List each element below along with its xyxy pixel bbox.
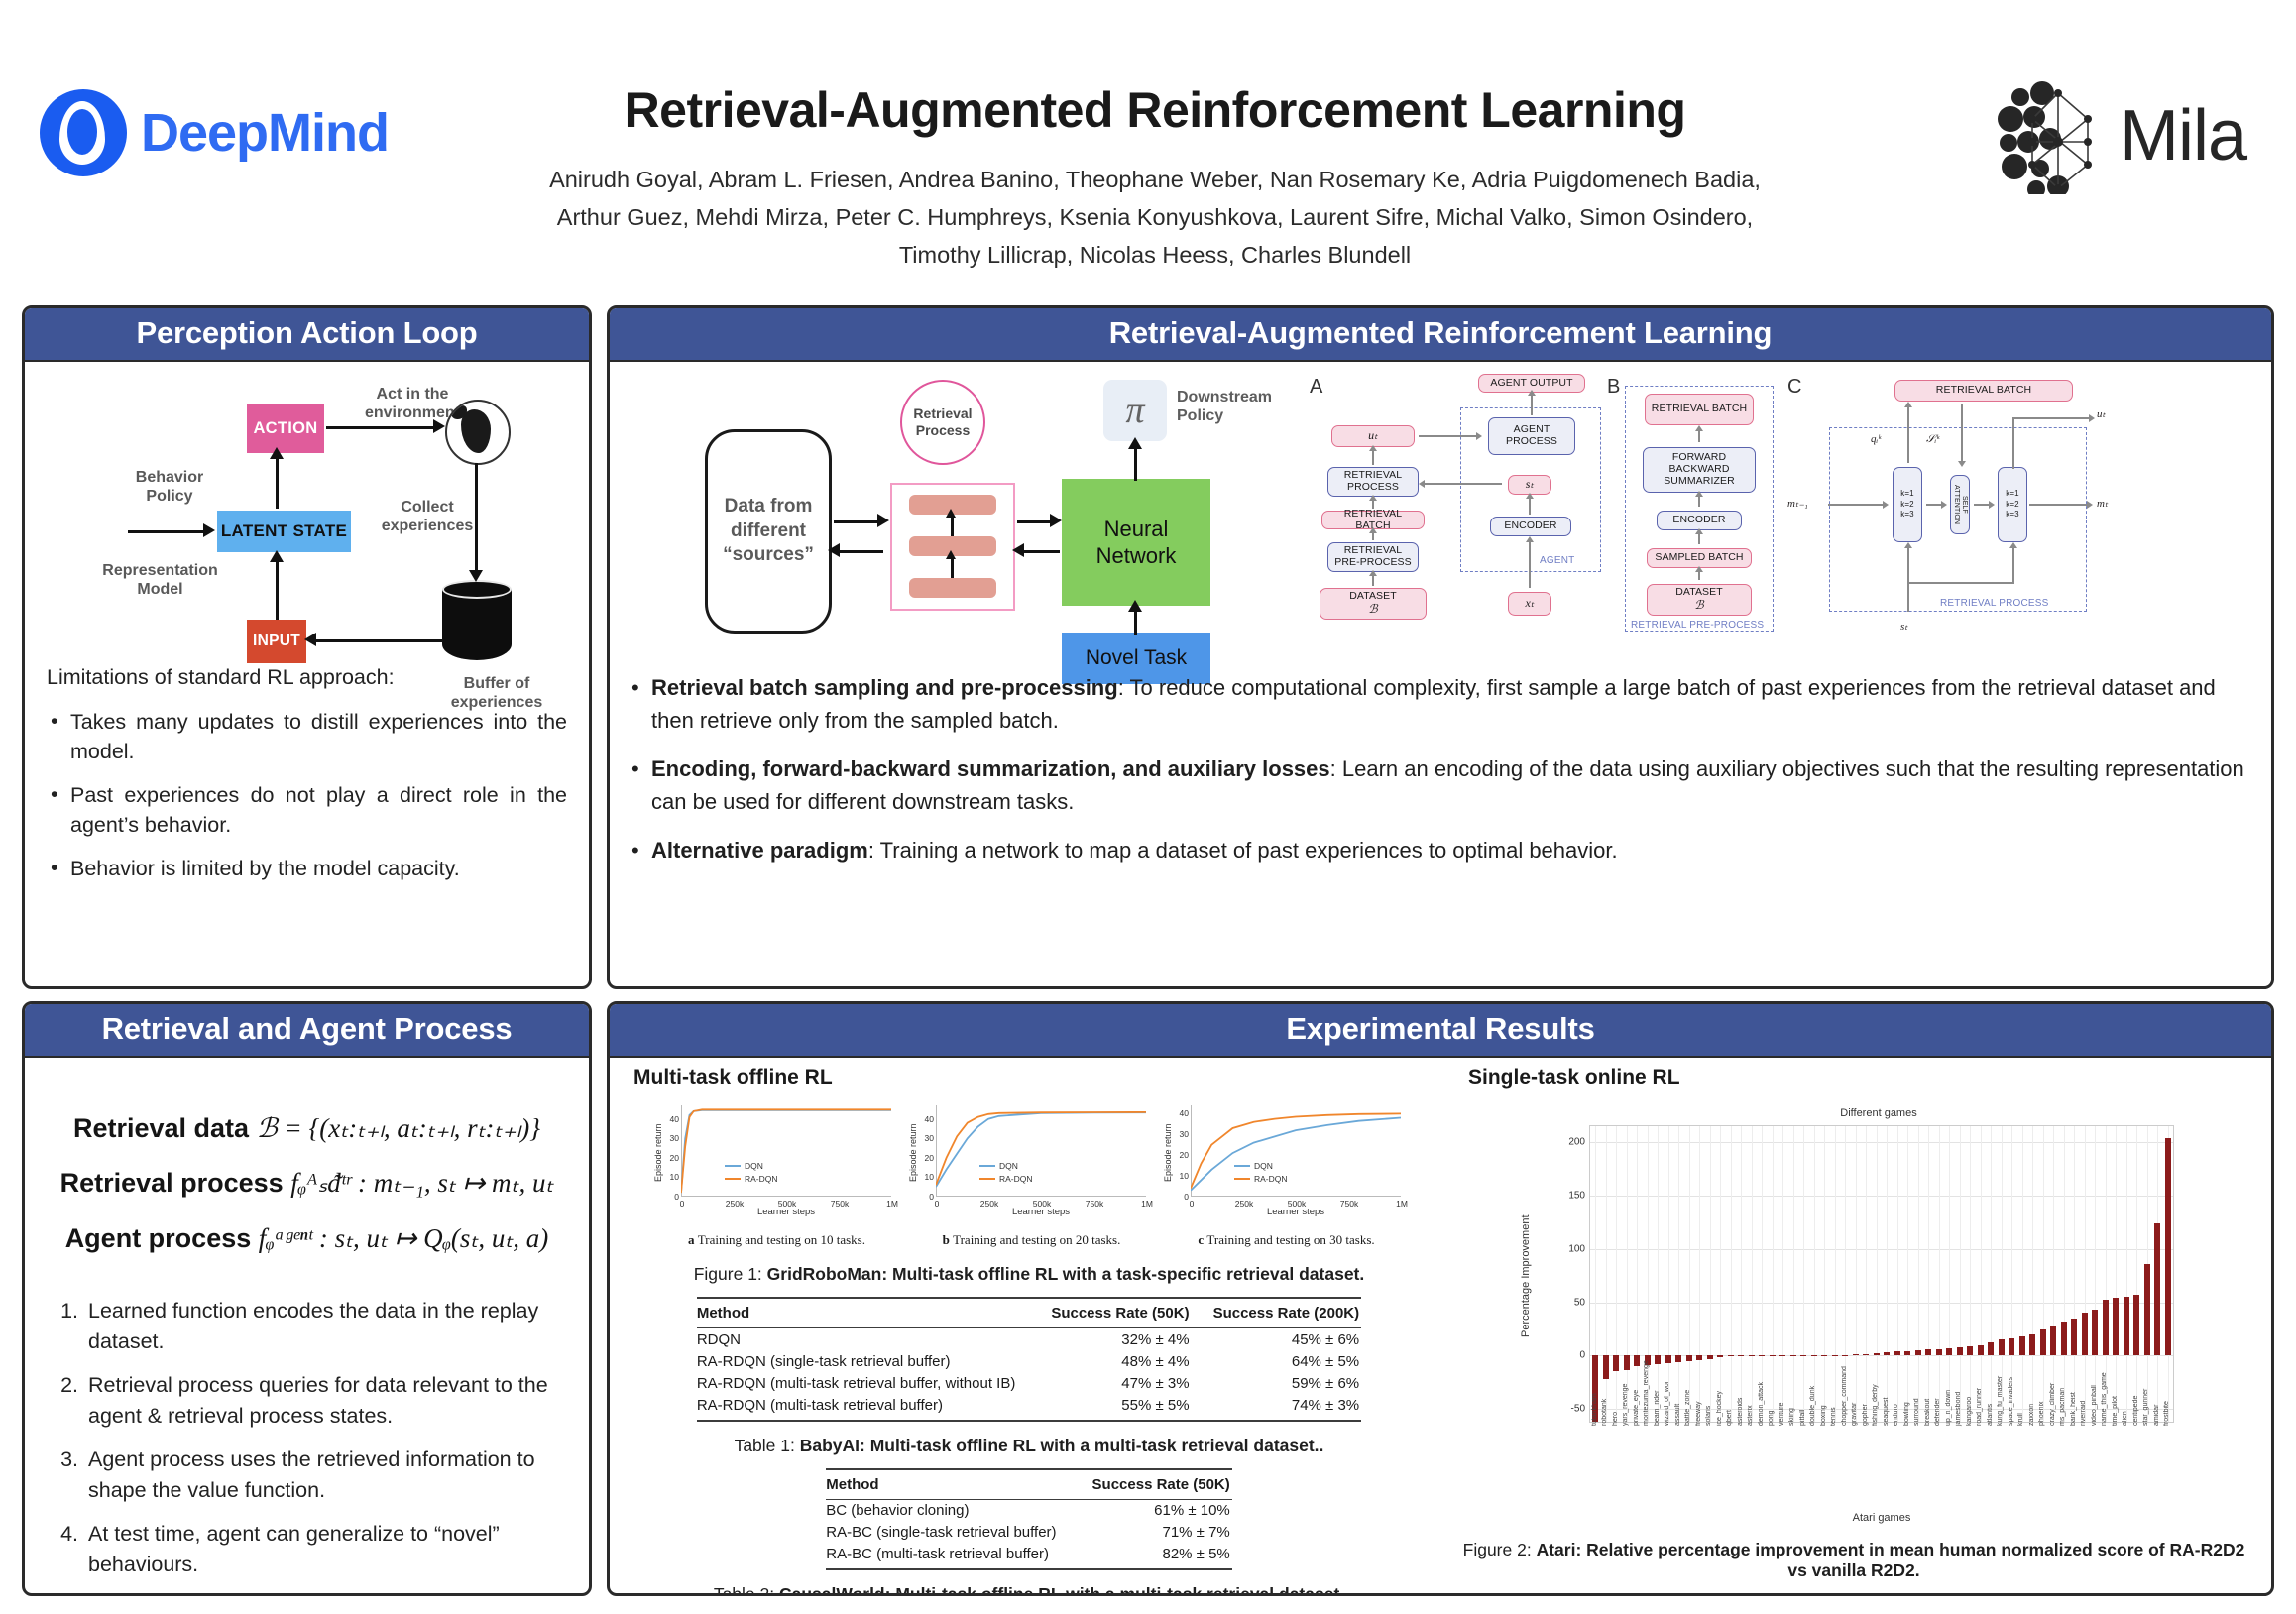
- atari-chart-title: Different games: [1601, 1107, 2156, 1119]
- legend-entry: RA-DQN: [979, 1174, 1033, 1184]
- bar: [1696, 1355, 1702, 1359]
- x-tick-label: demon_attack: [1758, 1382, 1765, 1426]
- bar: [2019, 1336, 2025, 1355]
- x-tick-label: freeway: [1695, 1401, 1702, 1426]
- chart-caption: a Training and testing on 10 tasks.: [655, 1232, 898, 1248]
- bar: [1675, 1355, 1681, 1361]
- list-item: Retrieval process queries for data relev…: [84, 1370, 573, 1431]
- poster-root: DeepMind Retrieval-Augmented Reinforceme…: [0, 0, 2296, 1614]
- table-row: RA-RDQN (single-task retrieval buffer)48…: [697, 1350, 1361, 1372]
- node-data-sources: Data from different “sources”: [705, 429, 832, 634]
- panel-title-perception: Perception Action Loop: [25, 308, 589, 362]
- author-line-1: Anirudh Goyal, Abram L. Friesen, Andrea …: [496, 161, 1814, 198]
- chart-lines: [681, 1105, 891, 1197]
- y-tick-label: 0: [929, 1192, 934, 1202]
- y-tick-label: 200: [1568, 1137, 1585, 1148]
- atari-plot-area: -50050100150200tutankhamrobotankheroyars…: [1589, 1125, 2174, 1423]
- gridroboman-charts: Episode return0102030400250k500k750k1MDQ…: [655, 1103, 1431, 1248]
- x-tick-label: qbert: [1726, 1410, 1733, 1426]
- arrow-buffer-to-input: [314, 639, 443, 642]
- bar: [1624, 1355, 1630, 1370]
- cell-value: 64% ± 5%: [1192, 1350, 1362, 1372]
- y-tick-label: 20: [670, 1153, 679, 1163]
- table2-text: CausalWorld: Multi-task offline RL with …: [779, 1584, 1344, 1596]
- arrow-nn-to-rp: [1020, 550, 1060, 553]
- grid-line: [1897, 1126, 1898, 1422]
- label-qk: qᵢᵏ: [1871, 433, 1881, 445]
- bullet-bold: Encoding, forward-backward summarization…: [651, 756, 1330, 781]
- arrow-task-to-nn: [1134, 608, 1137, 635]
- page-title: Retrieval-Augmented Reinforcement Learni…: [496, 81, 1814, 139]
- arrow-latent-to-action: [276, 455, 279, 509]
- bar: [1863, 1354, 1869, 1355]
- cell-method: RA-BC (multi-task retrieval buffer): [826, 1544, 1070, 1570]
- grid-line: [1991, 1126, 1992, 1422]
- author-line-3: Timothy Lillicrap, Nicolas Heess, Charle…: [496, 236, 1814, 274]
- col-sr-50k: Success Rate (50K): [1071, 1469, 1232, 1500]
- grid-line: [2053, 1126, 2054, 1422]
- bar: [1821, 1355, 1827, 1356]
- y-tick-label: 10: [1180, 1171, 1189, 1181]
- bar: [1770, 1355, 1776, 1356]
- node-agent-process: AGENT PROCESS: [1488, 417, 1575, 455]
- x-tick-label: montezuma_revenge: [1643, 1360, 1650, 1426]
- cell-value: 74% ± 3%: [1192, 1394, 1362, 1421]
- grid-line: [2095, 1126, 2096, 1422]
- grid-line: [2064, 1126, 2065, 1422]
- chart-caption: b Training and testing on 20 tasks.: [910, 1232, 1153, 1248]
- arrow-action-to-globe: [326, 426, 435, 429]
- panel-retrieval-agent-process: Retrieval and Agent Process Retrieval da…: [22, 1001, 592, 1596]
- x-tick-label: boxing: [1820, 1405, 1827, 1426]
- table-row: RA-BC (multi-task retrieval buffer)82% ±…: [826, 1544, 1232, 1570]
- bar: [1874, 1353, 1880, 1355]
- legend-label: RA-DQN: [1254, 1174, 1288, 1184]
- col-method: Method: [697, 1298, 1029, 1328]
- grid-line: [2116, 1126, 2117, 1422]
- bar: [1728, 1355, 1734, 1356]
- bar: [1800, 1355, 1806, 1356]
- bar: [1759, 1355, 1765, 1356]
- bar: [1686, 1355, 1692, 1360]
- col-sr-200k: Success Rate (200K): [1192, 1298, 1362, 1328]
- node-latent-state: LATENT STATE: [217, 511, 351, 552]
- grid-line: [2126, 1126, 2127, 1422]
- grid-line: [1835, 1126, 1836, 1422]
- bullet-text: : Training a network to map a dataset of…: [868, 838, 1618, 863]
- y-tick-label: 0: [674, 1192, 679, 1202]
- mila-logo: Mila: [1997, 77, 2246, 194]
- bar: [2092, 1310, 2098, 1355]
- grid-line: [1793, 1126, 1794, 1422]
- x-tick-label: chopper_command: [1841, 1366, 1848, 1426]
- table-causalworld: Method Success Rate (50K) BC (behavior c…: [826, 1468, 1232, 1571]
- x-tick-label: hero: [1612, 1412, 1619, 1426]
- x-tick-label: atlantis: [1987, 1404, 1994, 1426]
- x-tick-label: private_eye: [1633, 1390, 1640, 1426]
- bar: [2113, 1298, 2119, 1355]
- y-tick-label: 0: [1184, 1192, 1189, 1202]
- x-tick-label: time_pilot: [2112, 1396, 2119, 1426]
- x-tick-label: gravitar: [1851, 1403, 1858, 1426]
- panel-c-letter: C: [1787, 376, 1801, 399]
- x-axis-label: Learner steps: [1191, 1207, 1401, 1217]
- bar: [1884, 1352, 1890, 1355]
- poster-header: DeepMind Retrieval-Augmented Reinforceme…: [0, 0, 2296, 288]
- cell-method: RA-RDQN (multi-task retrieval buffer): [697, 1394, 1029, 1421]
- table-babyai: Method Success Rate (50K) Success Rate (…: [697, 1297, 1361, 1422]
- x-tick-label: skiing: [1788, 1408, 1795, 1426]
- x-tick-label: tutankham: [1591, 1393, 1598, 1426]
- node-b-dataset: DATASET ℬ: [1647, 584, 1752, 616]
- bar: [1853, 1354, 1859, 1355]
- x-tick-label: asteroids: [1737, 1398, 1744, 1426]
- bar: [1749, 1355, 1755, 1356]
- x-tick-label: yars_revenge: [1622, 1384, 1629, 1426]
- x-tick-label: robotank: [1601, 1399, 1608, 1426]
- label-agent-group: AGENT: [1540, 555, 1574, 566]
- table1-prefix: Table 1:: [735, 1436, 800, 1455]
- chart-legend: DQNRA-DQN: [1234, 1161, 1288, 1187]
- y-tick-label: 20: [1180, 1150, 1189, 1160]
- cell-value: 71% ± 7%: [1071, 1522, 1232, 1544]
- label-collect-experiences: Collect experiences: [368, 499, 487, 536]
- node-retrieval-preprocess: RETRIEVAL PRE-PROCESS: [1327, 542, 1419, 572]
- grid-line: [1887, 1126, 1888, 1422]
- x-axis-label: Learner steps: [936, 1207, 1146, 1217]
- x-tick-label: centipede: [2132, 1396, 2139, 1426]
- x-tick-label: pitfall: [1799, 1410, 1806, 1426]
- grid-line: [1814, 1126, 1815, 1422]
- bar: [1665, 1355, 1671, 1363]
- y-tick-label: 20: [925, 1153, 934, 1163]
- x-tick-label: ice_hockey: [1716, 1391, 1723, 1426]
- grid-line: [1658, 1126, 1659, 1422]
- bar: [2050, 1326, 2056, 1355]
- bar: [1988, 1342, 1994, 1355]
- bar: [1842, 1355, 1848, 1356]
- bar: [2061, 1322, 2067, 1355]
- y-axis-label: Episode return: [908, 1107, 918, 1199]
- bar: [1811, 1355, 1817, 1356]
- grid-line: [1637, 1126, 1638, 1422]
- x-tick-label: frostbite: [2163, 1401, 2170, 1426]
- grid-line: [1824, 1126, 1825, 1422]
- globe-icon: [445, 400, 511, 465]
- x-tick-label: crazy_climber: [2049, 1383, 2056, 1426]
- node-dataset: DATASET ℬ: [1320, 588, 1427, 620]
- node-b-retrieval-batch: RETRIEVAL BATCH: [1645, 394, 1754, 425]
- legend-label: DQN: [745, 1161, 763, 1171]
- node-b-summarizer: FORWARD BACKWARD SUMMARIZER: [1643, 447, 1756, 493]
- formula-expression: fᵩᴬₛᵭᵗʳ : mₜ₋₁, sₜ ↦ mₜ, uₜ: [290, 1168, 553, 1198]
- bar: [1967, 1346, 1973, 1356]
- bar: [2165, 1138, 2171, 1355]
- label-behavior-policy: Behavior Policy: [120, 469, 219, 507]
- list-item: Retrieval batch sampling and pre-process…: [651, 671, 2245, 737]
- grid-line: [1866, 1126, 1867, 1422]
- node-b-sampled-batch: SAMPLED BATCH: [1647, 548, 1752, 568]
- bar: [2154, 1223, 2160, 1355]
- table-row: RDQN32% ± 4%45% ± 6%: [697, 1328, 1361, 1351]
- cell-value: 59% ± 6%: [1192, 1372, 1362, 1394]
- label-retrieval-preprocess-group: RETRIEVAL PRE-PROCESS: [1631, 620, 1764, 631]
- figure2-caption: Figure 2: Atari: Relative percentage imp…: [1462, 1540, 2245, 1581]
- cell-value: 47% ± 3%: [1029, 1372, 1191, 1394]
- legend-entry: RA-DQN: [725, 1174, 778, 1184]
- grid-line: [2085, 1126, 2086, 1422]
- panel-b-letter: B: [1607, 376, 1620, 399]
- x-tick-label: up_n_down: [1945, 1390, 1952, 1426]
- bullet-bold: Alternative paradigm: [651, 838, 868, 863]
- author-line-2: Arthur Guez, Mehdi Mirza, Peter C. Humph…: [496, 198, 1814, 236]
- cell-method: RA-RDQN (multi-task retrieval buffer, wi…: [697, 1372, 1029, 1394]
- grid-line: [1949, 1126, 1950, 1422]
- legend-label: DQN: [1254, 1161, 1273, 1171]
- heading-multi-task-offline: Multi-task offline RL: [633, 1066, 1431, 1090]
- cell-value: 48% ± 4%: [1029, 1350, 1191, 1372]
- series-DQN: [681, 1110, 891, 1193]
- deepmind-mark-icon: [40, 89, 127, 176]
- label-retrieval-process-group: RETRIEVAL PROCESS: [1940, 598, 2049, 609]
- bar: [1894, 1351, 1900, 1355]
- grid-line: [1678, 1126, 1679, 1422]
- label-sk: 𝒮ᵢᵏ: [1926, 433, 1939, 446]
- legend-label: RA-DQN: [999, 1174, 1033, 1184]
- grid-line: [1731, 1126, 1732, 1422]
- grid-line: [1720, 1126, 1721, 1422]
- panel-title-experimental: Experimental Results: [610, 1004, 2271, 1058]
- y-tick-label: -50: [1571, 1404, 1585, 1415]
- grid-line: [1699, 1126, 1700, 1422]
- formula-label: Retrieval data: [73, 1113, 249, 1143]
- grid-line: [1856, 1126, 1857, 1422]
- figure2-prefix: Figure 2:: [1463, 1540, 1537, 1559]
- legend-entry: RA-DQN: [1234, 1174, 1288, 1184]
- x-tick-label: space_invaders: [2008, 1377, 2014, 1426]
- atari-y-axis-label: Percentage Improvement: [1520, 1167, 1532, 1385]
- y-tick-label: 150: [1568, 1190, 1585, 1201]
- y-tick-label: 40: [1180, 1108, 1189, 1118]
- series-RA-DQN: [936, 1112, 1146, 1185]
- x-tick-label: kangaroo: [1966, 1397, 1973, 1426]
- bar: [1946, 1348, 1952, 1356]
- formula-row: Retrieval process fᵩᴬₛᵭᵗʳ : mₜ₋₁, sₜ ↦ m…: [41, 1156, 573, 1210]
- grid-line: [1590, 1249, 2173, 1250]
- series-RA-DQN: [681, 1109, 891, 1193]
- table-row: RA-RDQN (multi-task retrieval buffer, wi…: [697, 1372, 1361, 1394]
- formula-row: Retrieval data ℬ = {(xₜ:ₜ₊ₗ, aₜ:ₜ₊ₗ, rₜ:…: [41, 1101, 573, 1156]
- list-item: Encoding, forward-backward summarization…: [651, 752, 2245, 818]
- col-sr-50k: Success Rate (50K): [1029, 1298, 1191, 1328]
- x-tick-label: amidar: [2153, 1405, 2160, 1426]
- legend-label: DQN: [999, 1161, 1018, 1171]
- bar: [1603, 1355, 1609, 1379]
- x-tick-label: name_this_game: [2101, 1372, 2108, 1426]
- bar: [1915, 1350, 1921, 1355]
- node-input: INPUT: [247, 620, 306, 663]
- bar: [2124, 1297, 2129, 1355]
- panel-a-letter: A: [1310, 376, 1322, 399]
- bar: [1904, 1351, 1910, 1355]
- atari-x-axis-label: Atari games: [1589, 1512, 2174, 1524]
- node-c-self-attention: SELF ATTENTION: [1950, 475, 1970, 534]
- chart-caption: c Training and testing on 30 tasks.: [1165, 1232, 1408, 1248]
- grid-line: [1970, 1126, 1971, 1422]
- node-c-retrieval-batch: RETRIEVAL BATCH: [1894, 380, 2073, 402]
- bar: [2009, 1338, 2014, 1355]
- figure2-text: Atari: Relative percentage improvement i…: [1537, 1540, 2245, 1580]
- panel-experimental-results: Experimental Results Multi-task offline …: [607, 1001, 2274, 1596]
- dataset-symbol: ℬ: [1368, 603, 1378, 616]
- grid-line: [1939, 1126, 1940, 1422]
- y-tick-label: 30: [1180, 1129, 1189, 1139]
- x-tick-label: asterix: [1747, 1405, 1754, 1426]
- perception-action-diagram: ACTION LATENT STATE INPUT Act in the env…: [41, 382, 573, 654]
- x-tick-label: bowling: [1903, 1402, 1910, 1426]
- label-representation-model: Representation Model: [98, 562, 222, 600]
- bar: [2029, 1334, 2035, 1356]
- formula-expression: ℬ = {(xₜ:ₜ₊ₗ, aₜ:ₜ₊ₗ, rₜ:ₜ₊ₗ)}: [257, 1113, 540, 1143]
- y-tick-label: 40: [670, 1114, 679, 1124]
- formula-label: Agent process: [65, 1223, 252, 1253]
- legend-swatch: [979, 1178, 995, 1181]
- legend-entry: DQN: [1234, 1161, 1288, 1171]
- table2-prefix: Table 2:: [714, 1584, 779, 1596]
- bar: [1957, 1347, 1963, 1356]
- rarl-bullet-list: Retrieval batch sampling and pre-process…: [626, 671, 2255, 866]
- list-item: Takes many updates to distill experience…: [70, 707, 567, 767]
- grid-line: [1668, 1126, 1669, 1422]
- line-chart: Episode return0102030400250k500k750k1MDQ…: [1165, 1103, 1408, 1248]
- bar: [1634, 1355, 1640, 1366]
- bar: [1978, 1345, 1984, 1356]
- database-cylinder-icon: [442, 580, 512, 667]
- grid-line: [1627, 1126, 1628, 1422]
- x-axis-label: Learner steps: [681, 1207, 891, 1217]
- label-ut-c: uₜ: [2097, 407, 2106, 420]
- cell-value: 82% ± 5%: [1071, 1544, 1232, 1570]
- chart-lines: [1191, 1105, 1401, 1197]
- dataset-symbol: ℬ: [1694, 599, 1704, 612]
- list-item: Learned function encodes the data in the…: [84, 1296, 573, 1356]
- grid-line: [1907, 1126, 1908, 1422]
- cell-value: 55% ± 5%: [1029, 1394, 1191, 1421]
- table-header-row: Method Success Rate (50K): [826, 1469, 1232, 1500]
- grid-line: [1752, 1126, 1753, 1422]
- line-chart: Episode return0102030400250k500k750k1MDQ…: [910, 1103, 1153, 1248]
- grid-line: [1928, 1126, 1929, 1422]
- figure1-text: GridRoboMan: Multi-task offline RL with …: [767, 1264, 1365, 1284]
- bar: [2133, 1295, 2139, 1355]
- x-tick-label: defender: [1934, 1398, 1941, 1426]
- legend-entry: DQN: [725, 1161, 778, 1171]
- x-tick-label: krull: [2017, 1413, 2024, 1426]
- y-tick-label: 50: [1574, 1297, 1585, 1308]
- legend-swatch: [1234, 1178, 1250, 1181]
- concept-diagram: Data from different “sources” Retrieval …: [695, 380, 1270, 657]
- y-tick-label: 10: [670, 1172, 679, 1182]
- bar: [1790, 1355, 1796, 1356]
- x-tick-label: venture: [1779, 1403, 1785, 1426]
- x-tick-label: road_runner: [1976, 1388, 1983, 1426]
- table-header-row: Method Success Rate (50K) Success Rate (…: [697, 1298, 1361, 1328]
- chart-legend: DQNRA-DQN: [725, 1161, 778, 1187]
- figure1-prefix: Figure 1:: [694, 1264, 767, 1284]
- author-list: Anirudh Goyal, Abram L. Friesen, Andrea …: [496, 161, 1814, 274]
- list-item: Agent process uses the retrieved informa…: [84, 1444, 573, 1505]
- retrieval-process-box: [890, 483, 1015, 611]
- x-tick-label: fishing_derby: [1872, 1384, 1879, 1426]
- node-b-encoder: ENCODER: [1657, 511, 1742, 530]
- grid-line: [2136, 1126, 2137, 1422]
- retrieval-agent-steps: Learned function encodes the data in the…: [41, 1296, 573, 1579]
- arrow-external-to-latent: [128, 530, 205, 533]
- grid-line: [1877, 1126, 1878, 1422]
- x-tick-label: beam_rider: [1654, 1391, 1661, 1426]
- arrow-input-to-latent: [276, 558, 279, 620]
- mila-wordmark: Mila: [2120, 100, 2246, 172]
- x-tick-label: star_gunner: [2142, 1389, 2149, 1426]
- formula-block: Retrieval data ℬ = {(xₜ:ₜ₊ₗ, aₜ:ₜ₊ₗ, rₜ:…: [41, 1101, 573, 1266]
- node-xt: xₜ: [1508, 592, 1551, 616]
- node-neural-network: Neural Network: [1062, 479, 1210, 606]
- formula-label: Retrieval process: [60, 1168, 284, 1198]
- y-tick-label: 30: [925, 1133, 934, 1143]
- retrieval-slot: [909, 578, 996, 598]
- formula-expression: fᵩᵃᵍᵉⁿᵗ : sₜ, uₜ ↦ Qᵩ(sₜ, uₜ, a): [259, 1223, 549, 1253]
- chart-legend: DQNRA-DQN: [979, 1161, 1033, 1187]
- table-row: RA-BC (single-task retrieval buffer)71% …: [826, 1522, 1232, 1544]
- grid-line: [1773, 1126, 1774, 1422]
- x-tick-label: tennis: [1830, 1407, 1837, 1426]
- label-downstream-policy: Downstream Policy: [1177, 388, 1296, 425]
- node-action: ACTION: [247, 403, 324, 453]
- bar: [1936, 1349, 1942, 1355]
- bullet-bold: Retrieval batch sampling and pre-process…: [651, 675, 1118, 700]
- x-tick-label: solaris: [1705, 1406, 1712, 1426]
- cell-method: RA-BC (single-task retrieval buffer): [826, 1522, 1070, 1544]
- bar: [1999, 1339, 2005, 1355]
- node-ut: uₜ: [1331, 425, 1415, 447]
- table-row: RA-RDQN (multi-task retrieval buffer)55%…: [697, 1394, 1361, 1421]
- bar: [1832, 1355, 1838, 1356]
- bar: [1779, 1355, 1785, 1356]
- grid-line: [1616, 1126, 1617, 1422]
- y-tick-label: 0: [1579, 1350, 1585, 1361]
- cell-method: RA-RDQN (single-task retrieval buffer): [697, 1350, 1029, 1372]
- grid-line: [1762, 1126, 1763, 1422]
- legend-swatch: [1234, 1165, 1250, 1168]
- series-RA-DQN: [1191, 1113, 1401, 1188]
- grid-line: [1803, 1126, 1804, 1422]
- x-tick-label: jamesbond: [1955, 1392, 1962, 1426]
- node-retrieval-process: RETRIEVAL PROCESS: [1327, 467, 1419, 497]
- x-tick-label: seaquest: [1883, 1398, 1890, 1426]
- panel-perception-action-loop: Perception Action Loop ACTION LATENT STA…: [22, 305, 592, 989]
- x-tick-label: double_dunk: [1809, 1386, 1816, 1426]
- legend-swatch: [725, 1178, 741, 1181]
- x-tick-label: phoenix: [2038, 1401, 2045, 1426]
- table1-caption: Table 1: BabyAI: Multi-task offline RL w…: [628, 1436, 1431, 1456]
- bar: [1738, 1355, 1744, 1356]
- node-retrieval-process-circle: Retrieval Process: [900, 380, 985, 465]
- cell-method: RDQN: [697, 1328, 1029, 1351]
- bar: [1655, 1355, 1661, 1364]
- bar: [2040, 1329, 2046, 1355]
- grid-line: [2074, 1126, 2075, 1422]
- label-mt: mₜ: [2097, 497, 2108, 510]
